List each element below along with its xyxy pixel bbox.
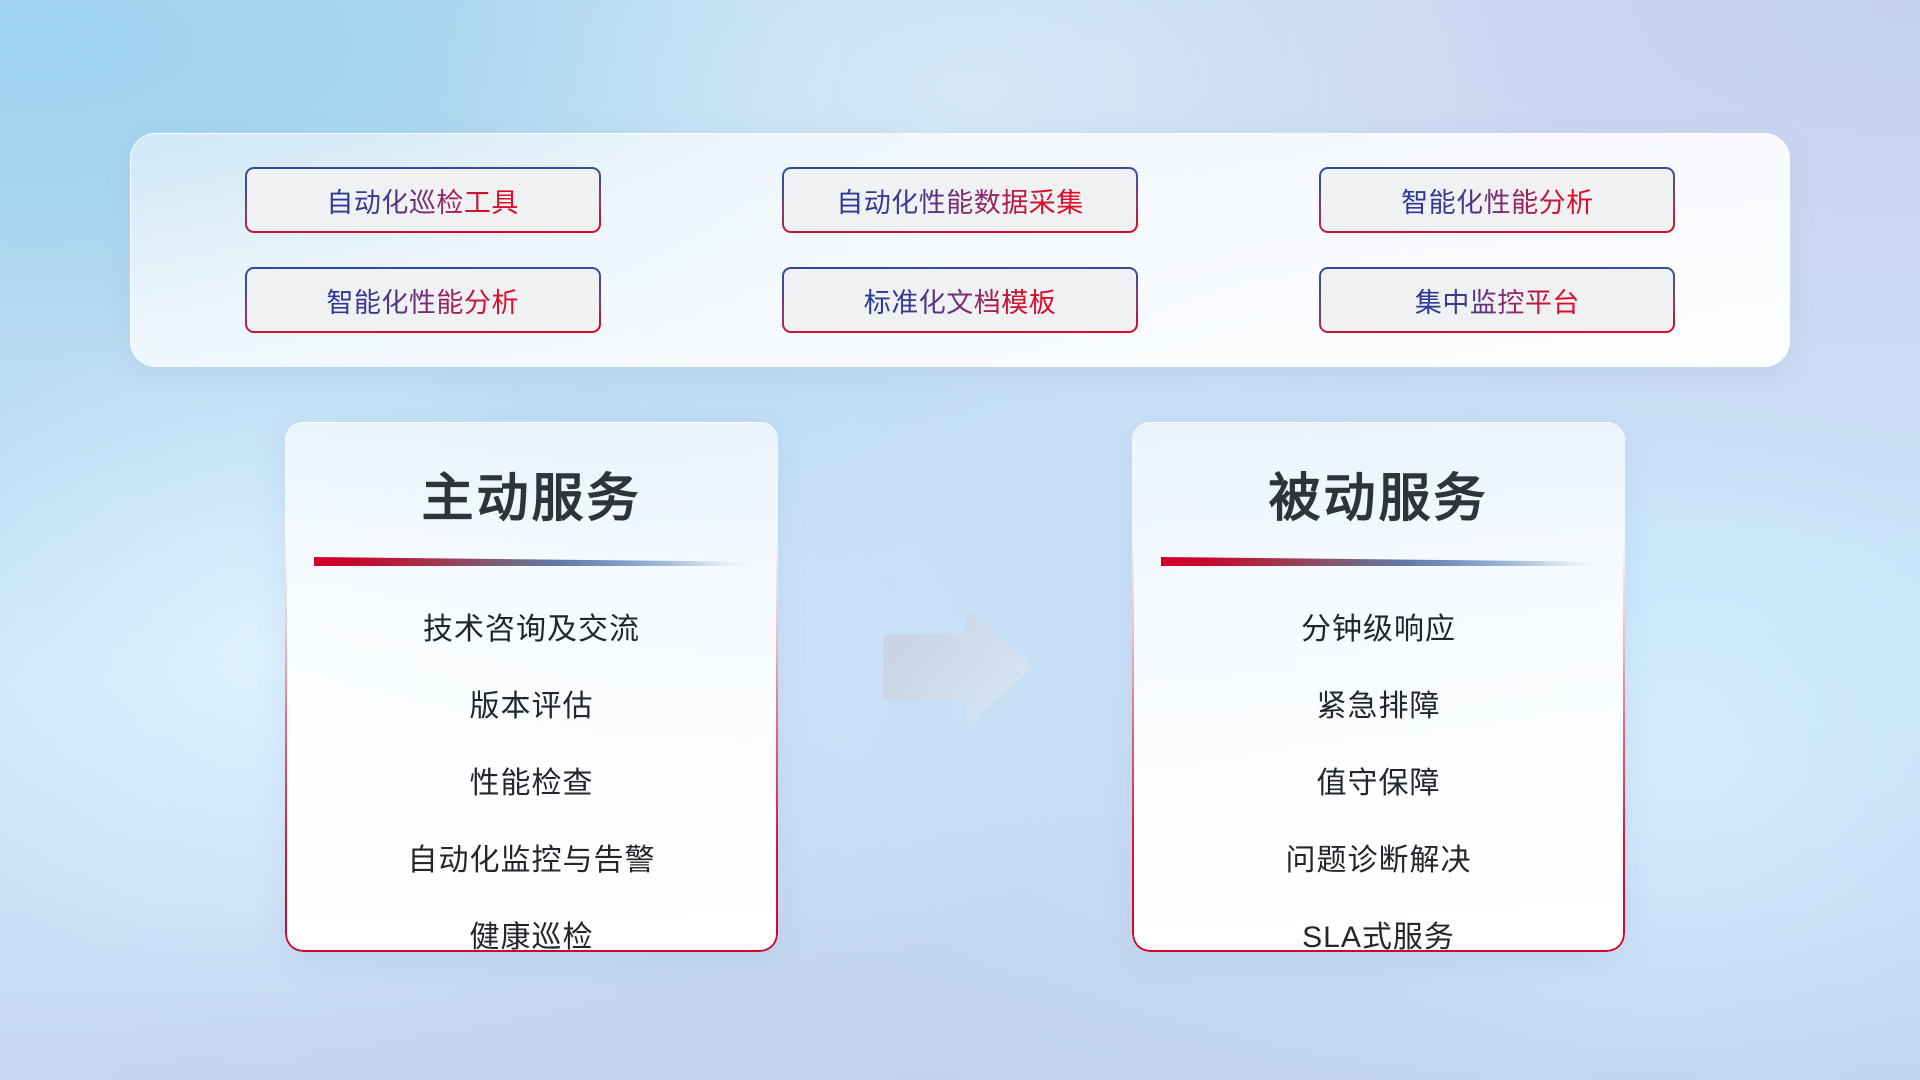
capability-chip-label: 集中监控平台	[1415, 281, 1580, 320]
capability-chip-intelligent-performance-analysis-2[interactable]: 智能化性能分析	[245, 267, 601, 333]
service-item-list: 分钟级响应 紧急排障 值守保障 问题诊断解决 SLA式服务	[1132, 566, 1625, 952]
capability-chip-label: 智能化性能分析	[1401, 181, 1594, 220]
card-divider	[1161, 557, 1597, 566]
capability-chip-label: 标准化文档模板	[864, 281, 1057, 320]
service-item-list: 技术咨询及交流 版本评估 性能检查 自动化监控与告警 健康巡检	[285, 566, 778, 952]
capability-chip-centralized-monitoring-platform[interactable]: 集中监控平台	[1319, 267, 1675, 333]
list-item: SLA式服务	[1302, 912, 1455, 952]
capability-chip-automated-inspection-tool[interactable]: 自动化巡检工具	[245, 167, 601, 233]
list-item: 值守保障	[1317, 758, 1441, 802]
card-divider	[314, 557, 750, 566]
capability-chip-label: 自动化性能数据采集	[836, 181, 1084, 220]
service-card-proactive: 主动服务 技术咨询及交流 版本评估 性能检查 自动化监控与告警 健康巡检	[285, 422, 778, 952]
capability-chip-intelligent-performance-analysis[interactable]: 智能化性能分析	[1319, 167, 1675, 233]
list-item: 分钟级响应	[1301, 604, 1456, 648]
service-card-reactive: 被动服务 分钟级响应 紧急排障 值守保障 问题诊断解决 SLA式服务	[1132, 422, 1625, 952]
card-title: 被动服务	[1132, 422, 1625, 531]
flow-arrow-right-icon	[873, 608, 1033, 728]
card-title: 主动服务	[285, 422, 778, 531]
list-item: 问题诊断解决	[1286, 835, 1472, 879]
list-item: 健康巡检	[470, 912, 594, 952]
list-item: 性能检查	[470, 758, 594, 802]
capability-chip-automated-performance-data-collection[interactable]: 自动化性能数据采集	[782, 167, 1138, 233]
capability-chip-standardized-document-template[interactable]: 标准化文档模板	[782, 267, 1138, 333]
capabilities-panel: 自动化巡检工具 自动化性能数据采集 智能化性能分析 智能化性能分析 标准化文档模…	[130, 133, 1790, 367]
capability-chip-label: 智能化性能分析	[326, 281, 519, 320]
list-item: 版本评估	[470, 681, 594, 725]
list-item: 紧急排障	[1317, 681, 1441, 725]
list-item: 技术咨询及交流	[423, 604, 640, 648]
list-item: 自动化监控与告警	[408, 835, 656, 879]
capability-chip-label: 自动化巡检工具	[326, 181, 519, 220]
